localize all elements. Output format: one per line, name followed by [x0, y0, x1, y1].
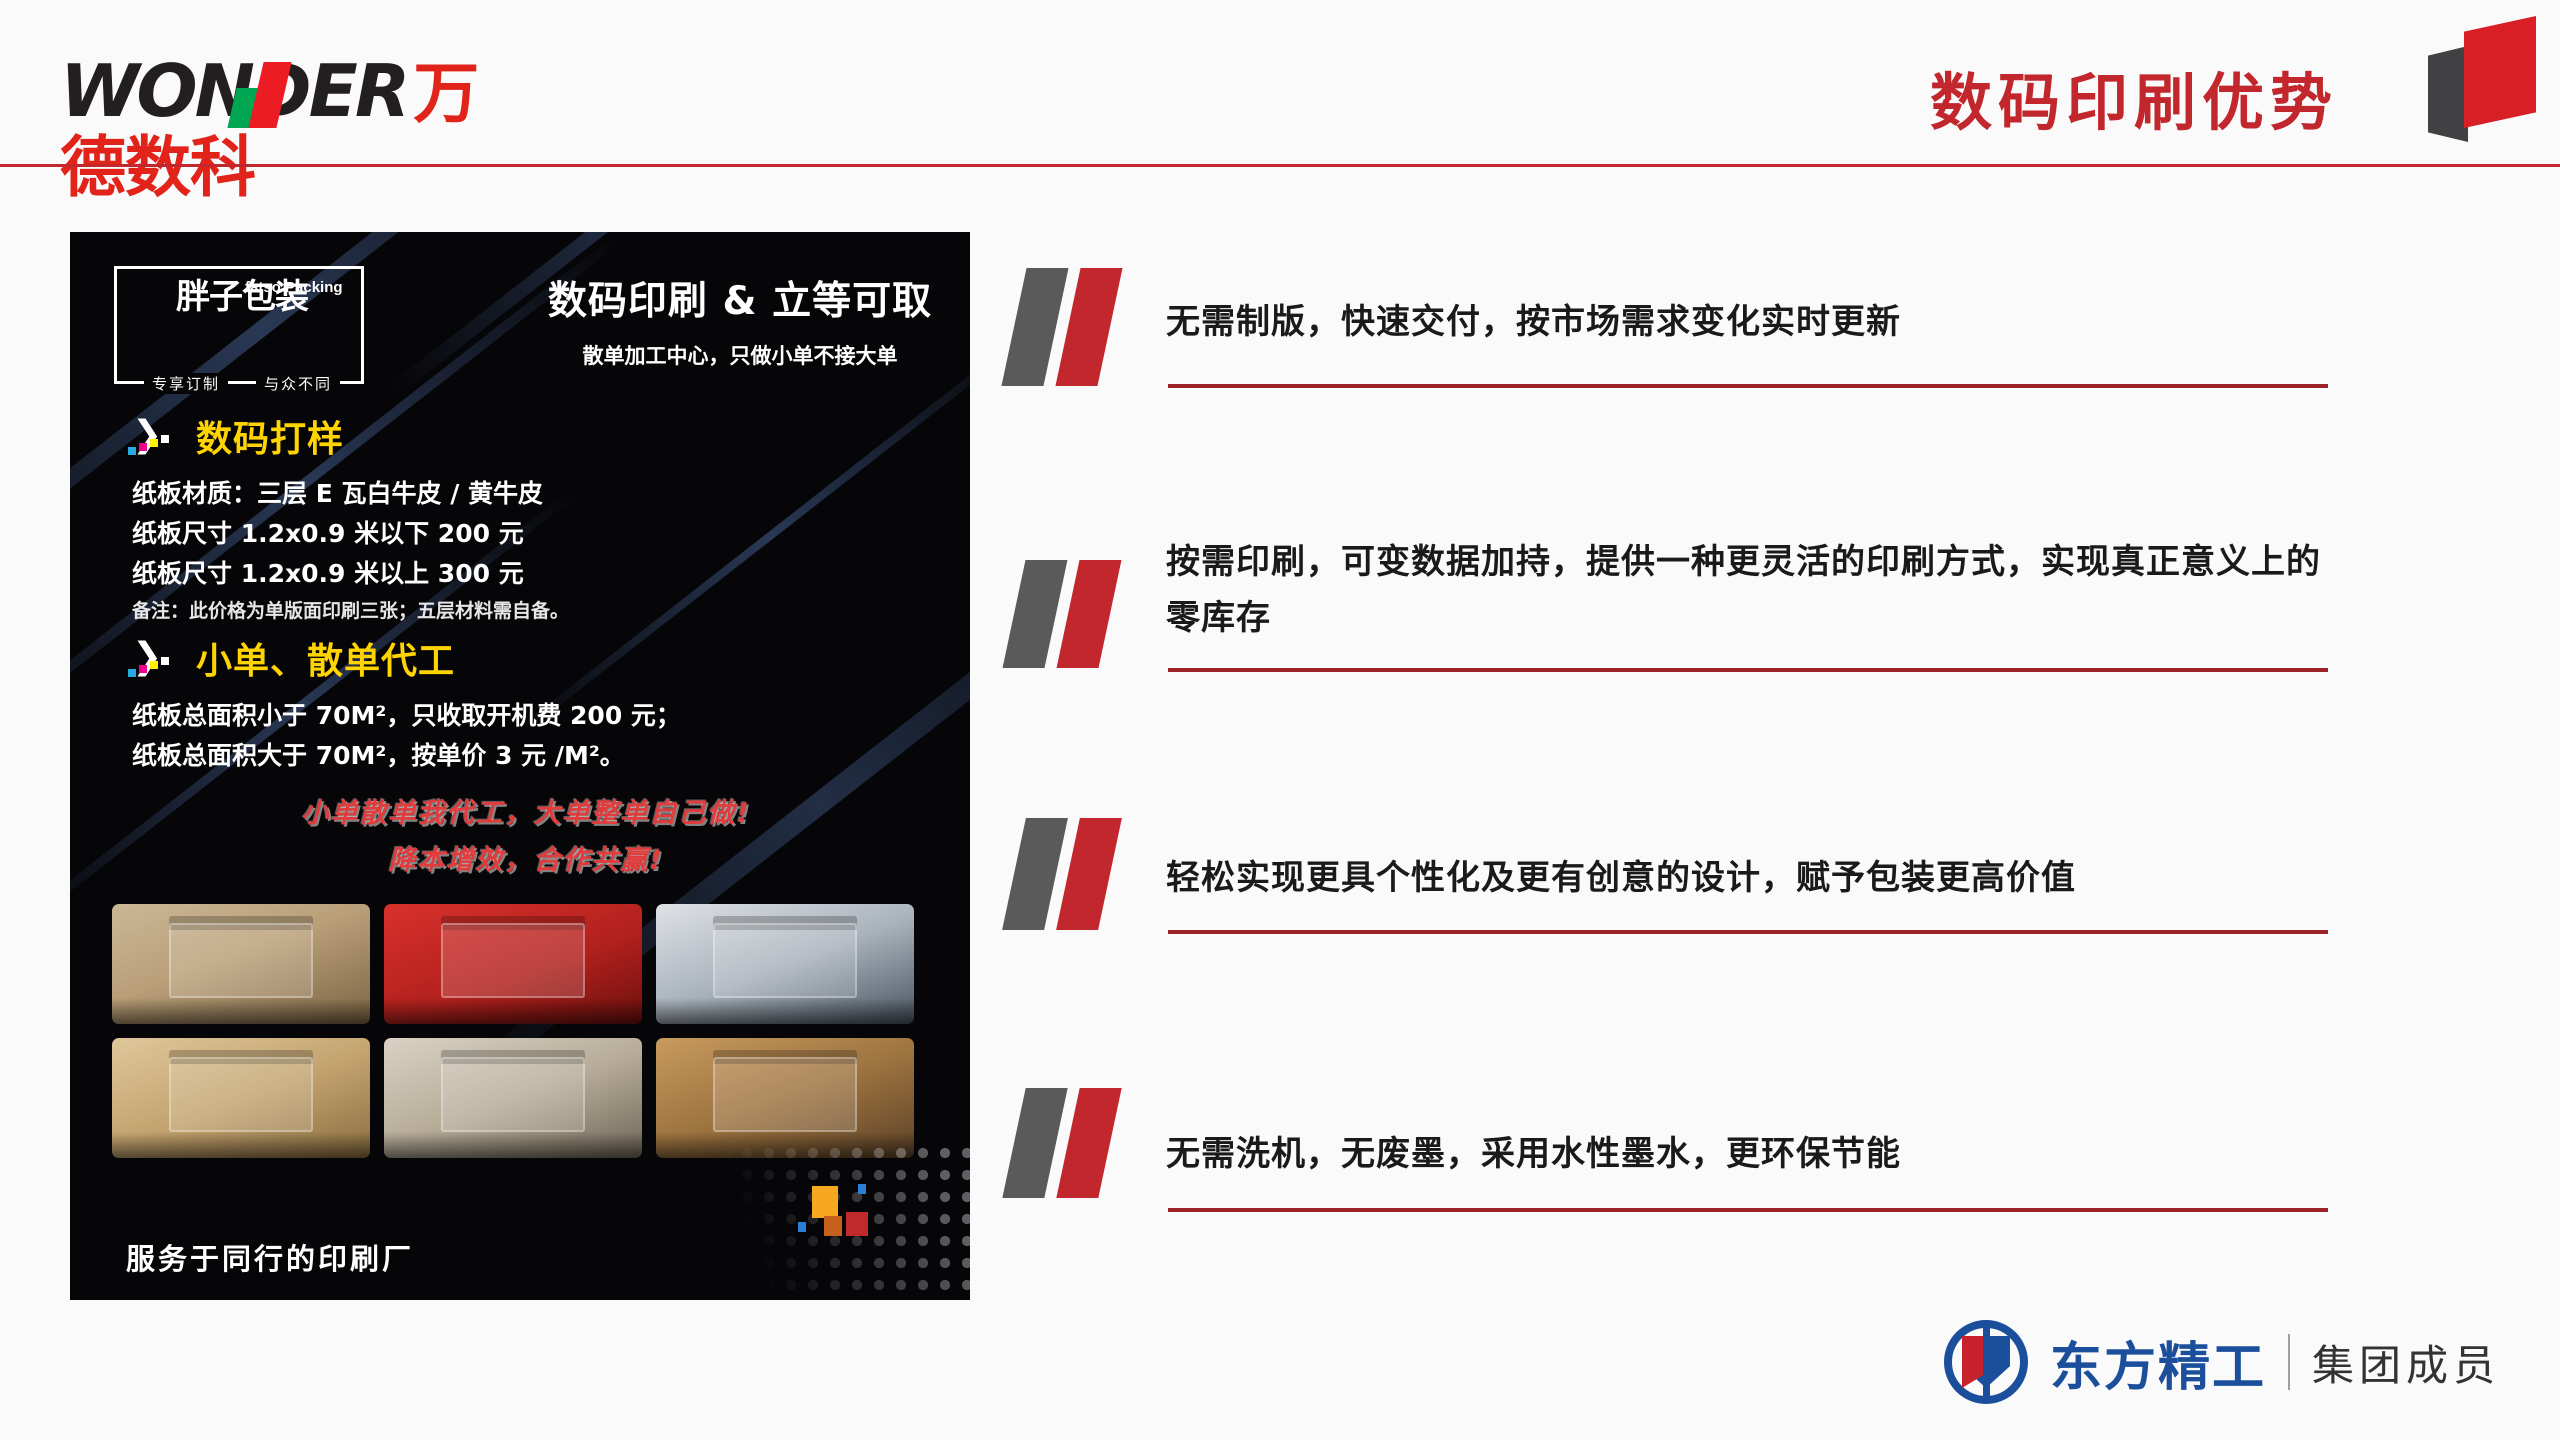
group-member-logo: 东方精工 集团成员 [1944, 1314, 2500, 1410]
poster-slogan: 小单散单我代工，大单整单自己做! 降本增效，合作共赢! [126, 790, 926, 884]
page-header: WONDER万德数科 数码印刷优势 [0, 0, 2560, 168]
fatso-tagline-right: 与众不同 [256, 373, 340, 394]
wonder-wordmark: WONDER万德数科 [60, 54, 520, 128]
page-title: 数码印刷优势 [1930, 52, 2338, 142]
section-title-row: ❯ 小单、散单代工 [126, 632, 926, 684]
advantage-underline [1168, 668, 2328, 672]
header-divider [0, 164, 2560, 167]
advantage-text: 无需制版，快速交付，按市场需求变化实时更新 [1166, 294, 2326, 350]
double-chevron-icon [1000, 268, 1150, 386]
section-line: 纸板总面积大于 70M²，按单价 3 元 /M²。 [132, 736, 926, 776]
section-title-row: ❯ 数码打样 [126, 410, 926, 462]
section-body: 纸板材质：三层 E 瓦白牛皮 / 黄牛皮 纸板尺寸 1.2x0.9 米以下 20… [126, 474, 926, 628]
fatso-tagline-left: 专享订制 [144, 373, 228, 394]
promotional-poster: 胖子包装 fatso Packing 专享订制 与众不同 数码印刷 & 立等可取… [70, 232, 970, 1300]
wonder-brand-logo: WONDER万德数科 [60, 48, 520, 128]
product-photo [384, 1038, 642, 1158]
halftone-color-swatches [796, 1182, 874, 1248]
product-photo [656, 904, 914, 1024]
corner-paper-fold-icon [2420, 0, 2542, 140]
company-name: 东方精工 [2050, 1325, 2266, 1400]
product-photo [112, 904, 370, 1024]
poster-section-digital-proofing: ❯ 数码打样 纸板材质：三层 E 瓦白牛皮 / 黄牛皮 纸板尺寸 1.2x0.9… [126, 410, 926, 628]
dongfang-jingong-emblem-icon [1944, 1320, 2028, 1404]
advantage-underline [1168, 1208, 2328, 1212]
slogan-line-2: 降本增效，合作共赢! [126, 837, 926, 884]
double-chevron-icon [1000, 1088, 1150, 1206]
poster-footer-text: 服务于同行的印刷厂 [126, 1236, 414, 1278]
poster-header: 胖子包装 fatso Packing 专享订制 与众不同 数码印刷 & 立等可取… [70, 248, 970, 398]
double-chevron-icon [1000, 560, 1150, 678]
poster-headline-block: 数码印刷 & 立等可取 散单加工中心，只做小单不接大单 [530, 270, 950, 370]
section-line: 纸板尺寸 1.2x0.9 米以下 200 元 [132, 514, 926, 554]
chevron-arrow-icon: ❯ [126, 413, 182, 459]
corner-fold-red-panel [2464, 16, 2536, 128]
section-title-text: 小单、散单代工 [196, 632, 455, 684]
section-line: 纸板总面积小于 70M²，只收取开机费 200 元； [132, 696, 926, 736]
chevron-arrow-icon: ❯ [126, 635, 182, 681]
poster-section-small-order-oem: ❯ 小单、散单代工 纸板总面积小于 70M²，只收取开机费 200 元； 纸板总… [126, 632, 926, 776]
fatso-logo-taglines: 专享订制 与众不同 [117, 373, 367, 394]
fatso-packing-logo: 胖子包装 fatso Packing 专享订制 与众不同 [114, 266, 364, 384]
group-member-label: 集团成员 [2312, 1332, 2500, 1393]
double-chevron-icon [1000, 818, 1150, 936]
section-line: 纸板材质：三层 E 瓦白牛皮 / 黄牛皮 [132, 474, 926, 514]
product-photo [384, 904, 642, 1024]
advantage-text: 轻松实现更具个性化及更有创意的设计，赋予包装更高价值 [1166, 850, 2326, 906]
product-photo-grid [112, 904, 928, 1158]
product-photo [112, 1038, 370, 1158]
corner-fold-dark-panel [2428, 46, 2468, 142]
slogan-line-1: 小单散单我代工，大单整单自己做! [126, 790, 926, 837]
section-title-text: 数码打样 [196, 410, 344, 462]
poster-headline: 数码印刷 & 立等可取 [530, 270, 950, 326]
section-note: 备注：此价格为单版面印刷三张；五层材料需自备。 [132, 594, 926, 628]
section-line: 纸板尺寸 1.2x0.9 米以上 300 元 [132, 554, 926, 594]
halftone-dots-decoration [670, 1142, 970, 1292]
fatso-logo-english: fatso Packing [245, 279, 343, 296]
advantage-underline [1168, 384, 2328, 388]
footer-divider [2288, 1334, 2290, 1390]
advantage-text: 按需印刷，可变数据加持，提供一种更灵活的印刷方式，实现真正意义上的零库存 [1166, 534, 2326, 646]
advantage-underline [1168, 930, 2328, 934]
product-photo [656, 1038, 914, 1158]
advantage-text: 无需洗机，无废墨，采用水性墨水，更环保节能 [1166, 1126, 2326, 1182]
section-body: 纸板总面积小于 70M²，只收取开机费 200 元； 纸板总面积大于 70M²，… [126, 696, 926, 776]
poster-subheadline: 散单加工中心，只做小单不接大单 [530, 340, 950, 370]
